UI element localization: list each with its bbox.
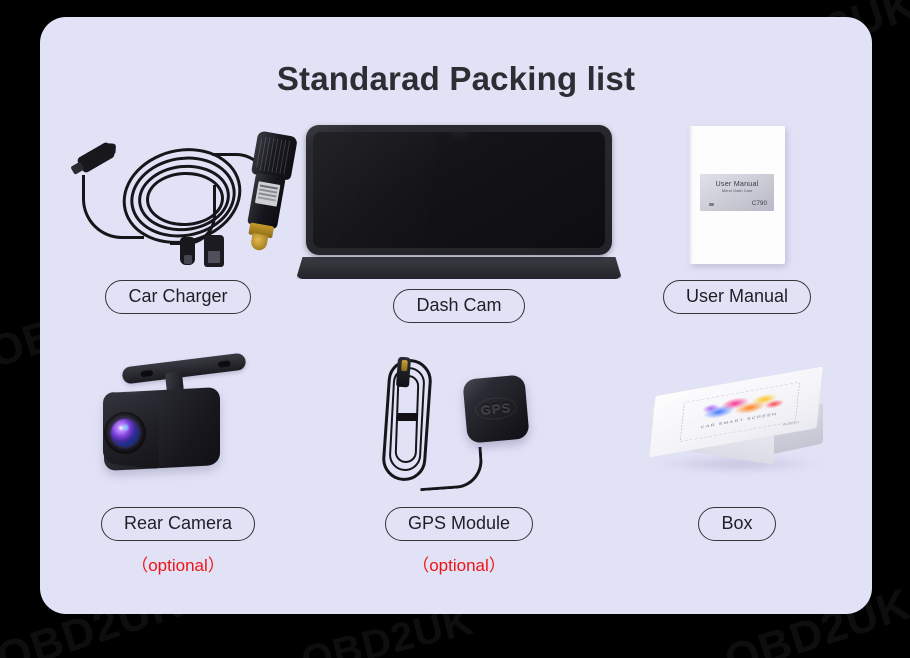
gps-antenna-body: GPS <box>462 374 529 443</box>
dash-cam-graphic <box>294 121 624 281</box>
label-rear-camera: Rear Camera <box>101 507 255 541</box>
mounting-bracket <box>121 353 246 385</box>
user-manual-graphic: User Manual Mirror Dash Cam C790 <box>677 122 797 272</box>
rear-camera-illustration <box>62 349 294 499</box>
plug-label <box>255 181 280 206</box>
item-box: CAR SMART SCREEN AOEDI Box （optional） <box>624 349 850 601</box>
user-manual-illustration: User Manual Mirror Dash Cam C790 <box>624 121 850 272</box>
item-dash-cam: Dash Cam （optional） <box>294 121 624 349</box>
manual-cover-mark <box>709 203 714 206</box>
manual-cover-title: User Manual <box>700 179 774 188</box>
mini-usb-plug-icon <box>76 141 116 174</box>
item-rear-camera: Rear Camera （optional） <box>62 349 294 601</box>
manual-cover-subtitle: Mirror Dash Cam <box>700 188 774 193</box>
label-dash-cam: Dash Cam <box>393 289 524 323</box>
item-car-charger: Car Charger （optional） <box>62 121 294 349</box>
plug-grip-ribs <box>256 136 293 175</box>
camera-lens-ring <box>104 412 146 454</box>
screen-glare <box>313 132 442 248</box>
label-gps-module: GPS Module <box>385 507 533 541</box>
page-title: Standarad Packing list <box>40 60 872 98</box>
dash-cam-screen <box>313 132 605 248</box>
dash-cam-illustration <box>294 121 624 281</box>
car-charger-illustration <box>62 121 294 272</box>
cable-lead-left <box>82 175 144 239</box>
manual-cover-image: User Manual Mirror Dash Cam C790 <box>700 174 774 211</box>
manual-spine <box>689 126 693 264</box>
item-gps-module: GPS GPS Module （optional） <box>294 349 624 601</box>
bracket-hole-right <box>217 359 231 368</box>
car-charger-graphic <box>62 127 294 267</box>
rear-camera-graphic <box>88 354 268 494</box>
label-box: Box <box>698 507 775 541</box>
bracket-hole-left <box>140 369 154 378</box>
gps-cable-plug-icon <box>396 357 411 388</box>
camera-lens-icon <box>442 132 476 142</box>
female-connector-icon <box>180 237 195 265</box>
packing-list-grid: Car Charger （optional） Dash Cam （optiona… <box>62 121 850 601</box>
dash-cam-stand <box>296 257 622 279</box>
box-graphic: CAR SMART SCREEN AOEDI <box>637 354 837 494</box>
plug-tip <box>250 233 269 252</box>
label-user-manual: User Manual <box>663 280 811 314</box>
optional-note-rear-camera: （optional） <box>131 551 225 576</box>
gps-module-illustration: GPS <box>294 349 624 499</box>
dash-cam-body <box>306 125 612 255</box>
optional-note-gps-module: （optional） <box>412 551 506 576</box>
box-illustration: CAR SMART SCREEN AOEDI <box>624 349 850 499</box>
gps-emboss-text: GPS <box>480 399 512 417</box>
camera-lens-icon <box>111 419 139 447</box>
manual-cover-model: C790 <box>752 200 767 207</box>
cable-tie <box>397 413 418 421</box>
cigarette-lighter-plug-icon <box>238 130 298 253</box>
manual-booklet: User Manual Mirror Dash Cam C790 <box>689 126 785 264</box>
gps-module-graphic: GPS <box>369 353 549 495</box>
gps-cable-tail <box>418 447 485 491</box>
packing-list-panel: Standarad Packing list <box>40 17 872 614</box>
item-user-manual: User Manual Mirror Dash Cam C790 User Ma… <box>624 121 850 349</box>
usb-port-icon <box>204 235 224 267</box>
label-car-charger: Car Charger <box>105 280 250 314</box>
